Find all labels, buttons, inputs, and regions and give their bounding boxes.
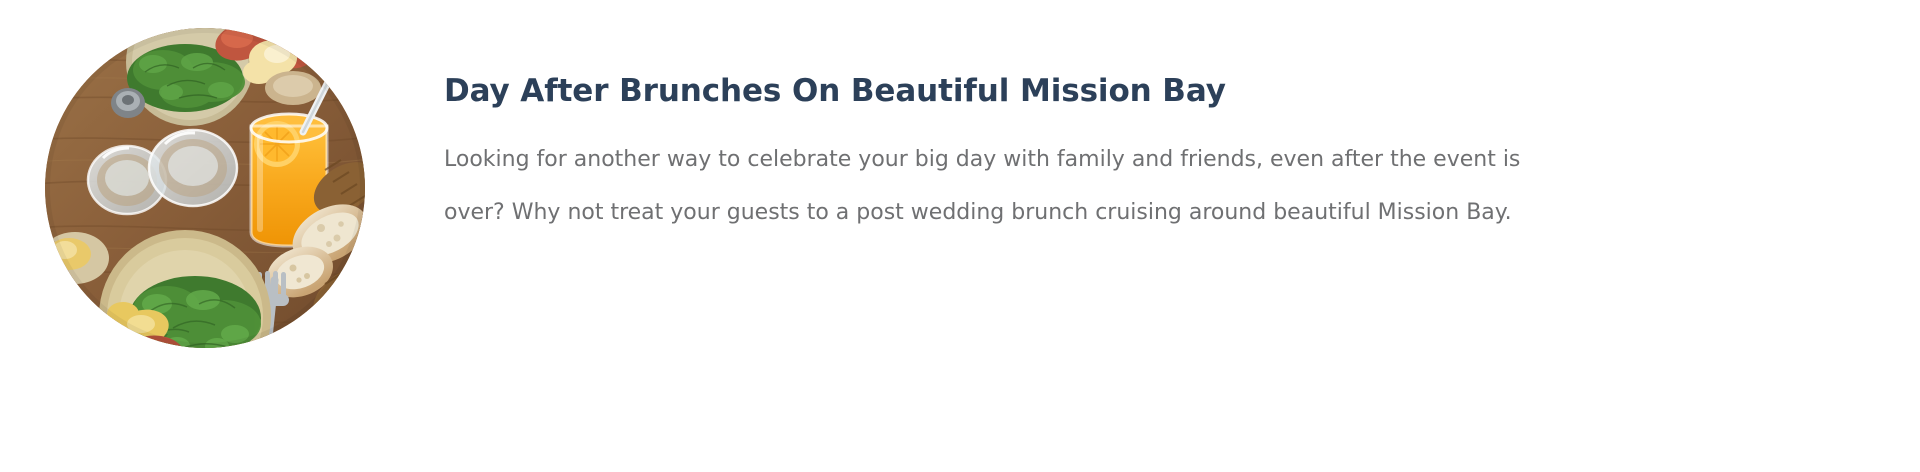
post-content: Day After Brunches On Beautiful Mission …	[444, 0, 1864, 239]
post-title[interactable]: Day After Brunches On Beautiful Mission …	[444, 72, 1864, 111]
post-teaser-card[interactable]: Day After Brunches On Beautiful Mission …	[0, 0, 1920, 472]
post-excerpt: Looking for another way to celebrate you…	[444, 133, 1554, 239]
post-thumbnail[interactable]	[45, 28, 365, 348]
brunch-table-photo-graphic	[45, 28, 365, 348]
brunch-table-photo[interactable]	[45, 28, 365, 348]
